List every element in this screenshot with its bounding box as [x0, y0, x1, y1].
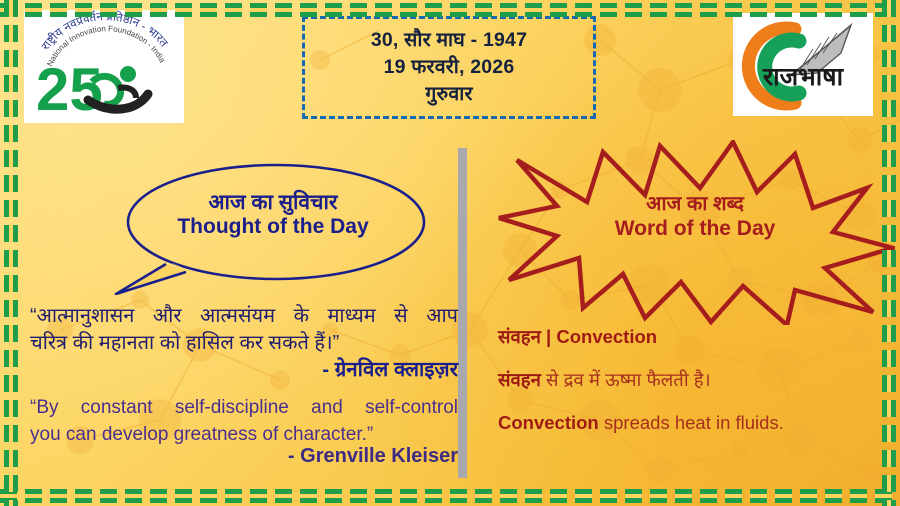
- headword-hindi: संवहन: [498, 326, 541, 347]
- thought-hindi-line2: चरित्र की महानता को हासिल कर सकते हैं।”: [30, 330, 458, 357]
- date-gregorian: 19 फरवरी, 2026: [384, 54, 515, 81]
- border-left: [4, 0, 18, 506]
- thought-english-text: “By constant self-discipline and self-co…: [30, 395, 458, 449]
- vertical-divider: [458, 148, 467, 478]
- bubble-text: आज का सुविचार Thought of the Day: [108, 191, 438, 240]
- thought-english-author: - Grenville Kleiser: [30, 445, 458, 468]
- border-top: [0, 3, 900, 17]
- border-right: [882, 0, 896, 506]
- sentence-english-keyword: Convection: [498, 412, 599, 433]
- rajbhasha-logo: राजभाषा: [733, 13, 873, 116]
- starburst-title-english: Word of the Day: [555, 216, 835, 241]
- thought-hindi-text: “आत्मानुशासन और आत्मसंयम के माध्यम से आप…: [30, 303, 458, 357]
- daily-thought-and-word-poster: राष्ट्रीय नवप्रवर्तन प्रतिष्ठान - भारत N…: [0, 0, 900, 506]
- sentence-hindi-rest: से द्रव में ऊष्मा फैलती है।: [541, 369, 711, 390]
- thought-english-line1: “By constant self-discipline and self-co…: [30, 395, 458, 422]
- headword-separator: |: [541, 326, 556, 347]
- border-bottom: [0, 489, 900, 503]
- svg-text:25: 25: [36, 56, 103, 123]
- bubble-title-hindi: आज का सुविचार: [108, 191, 438, 215]
- word-of-the-day-content: संवहन | Convection संवहन से द्रव में ऊष्…: [498, 325, 888, 434]
- word-sentence-english-row: Convection spreads heat in fluids.: [498, 411, 888, 434]
- date-weekday: गुरुवार: [425, 81, 472, 108]
- date-saka: 30, सौर माघ - 1947: [371, 27, 527, 54]
- starburst-text: आज का शब्द Word of the Day: [555, 192, 835, 241]
- thought-hindi-line1: “आत्मानुशासन और आत्मसंयम के माध्यम से आप: [30, 303, 458, 330]
- thought-of-the-day-bubble: आज का सुविचार Thought of the Day: [108, 160, 438, 295]
- thought-hindi-author: - ग्रेनविल क्लाइज़र: [30, 355, 458, 383]
- headword-english: Convection: [556, 326, 657, 347]
- word-headword-row: संवहन | Convection: [498, 325, 888, 348]
- sentence-hindi-keyword: संवहन: [498, 369, 541, 390]
- svg-text:राजभाषा: राजभाषा: [762, 63, 845, 91]
- starburst-title-hindi: आज का शब्द: [555, 192, 835, 216]
- word-of-the-day-starburst: आज का शब्द Word of the Day: [495, 140, 895, 325]
- date-box: 30, सौर माघ - 1947 19 फरवरी, 2026 गुरुवा…: [302, 16, 596, 119]
- word-sentence-hindi-row: संवहन से द्रव में ऊष्मा फैलती है।: [498, 368, 888, 391]
- national-innovation-foundation-logo: राष्ट्रीय नवप्रवर्तन प्रतिष्ठान - भारत N…: [24, 10, 184, 123]
- bubble-title-english: Thought of the Day: [108, 215, 438, 239]
- sentence-english-rest: spreads heat in fluids.: [599, 412, 784, 433]
